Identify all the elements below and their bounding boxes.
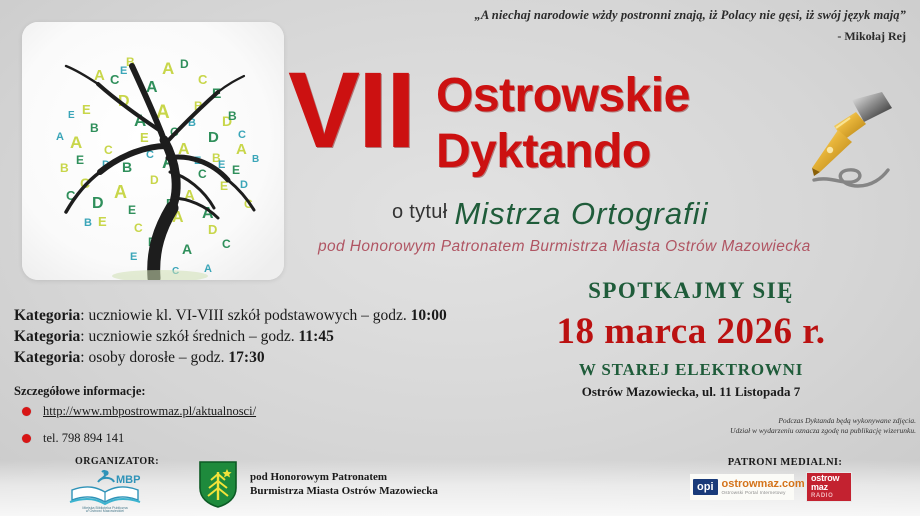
category-time: 17:30: [228, 349, 264, 366]
fountain-pen-icon: [786, 64, 916, 196]
svg-text:E: E: [140, 130, 149, 145]
omaz-line-3: RADIO: [811, 492, 851, 500]
opi-badge: opi: [693, 479, 718, 495]
category-time: 11:45: [299, 328, 334, 345]
title-lines: Ostrowskie Dyktando: [436, 68, 690, 180]
svg-text:C: C: [238, 129, 246, 141]
letter-tree-image: AB AC ED AB DA CE AB CA DA EE CA DA BC C…: [22, 22, 284, 280]
svg-text:E: E: [98, 214, 107, 229]
svg-text:C: C: [198, 72, 208, 87]
svg-text:D: D: [240, 179, 248, 191]
svg-text:E: E: [68, 110, 75, 121]
svg-text:D: D: [180, 57, 189, 71]
info-heading: Szczegółowe informacje:: [14, 384, 146, 399]
svg-text:D: D: [150, 173, 159, 187]
category-label: Kategoria: [14, 307, 80, 324]
organizer-heading: ORGANIZATOR:: [62, 456, 172, 467]
opi-ostrowmaz-logo[interactable]: opi ostrowmaz.com Ostrowski Portal Inter…: [690, 474, 794, 500]
title-line-dyktando: Dyktando: [436, 124, 690, 180]
svg-text:E: E: [120, 65, 127, 77]
svg-text:C: C: [104, 143, 113, 157]
svg-text:C: C: [222, 237, 231, 251]
bullet-dot-icon: [22, 434, 31, 443]
svg-text:A: A: [70, 133, 82, 152]
roman-numeral-vii: VII: [288, 62, 414, 158]
phone-text: tel. 798 894 141: [43, 431, 124, 446]
opi-text-block: ostrowmaz.com Ostrowski Portal Interneto…: [722, 479, 805, 496]
website-link[interactable]: http://www.mbpostrowmaz.pl/aktualnosci/: [43, 404, 256, 419]
svg-text:C: C: [110, 72, 120, 87]
category-row: Kategoria: uczniowie szkół średnich – go…: [14, 326, 447, 347]
svg-text:E: E: [232, 163, 240, 177]
category-row: Kategoria: uczniowie kl. VI-VIII szkół p…: [14, 305, 447, 326]
patronage-footer-text: pod Honorowym Patronatem Burmistrza Mias…: [250, 470, 438, 498]
svg-text:B: B: [60, 161, 69, 175]
patron-line-1: pod Honorowym Patronatem: [250, 470, 438, 484]
svg-text:w Ostrowi Mazowieckiej: w Ostrowi Mazowieckiej: [86, 509, 124, 512]
svg-text:E: E: [76, 153, 84, 167]
poster-canvas: „A niechaj narodowie wżdy postronni znaj…: [0, 0, 920, 516]
quote-text: „A niechaj narodowie wżdy postronni znaj…: [426, 8, 906, 23]
svg-text:A: A: [56, 131, 64, 143]
svg-text:B: B: [90, 121, 99, 135]
ostrowmaz-radio-logo[interactable]: ostrow maz RADIO: [806, 472, 852, 502]
svg-text:B: B: [228, 109, 237, 123]
city-coat-of-arms: [198, 460, 238, 508]
meet-heading: SPOTKAJMY SIĘ: [476, 278, 906, 304]
bullet-row-url[interactable]: http://www.mbpostrowmaz.pl/aktualnosci/: [22, 402, 256, 421]
category-label: Kategoria: [14, 328, 80, 345]
bullet-dot-icon: [22, 407, 31, 416]
opi-subtitle: Ostrowski Portal Internetowy: [722, 490, 805, 496]
svg-text:D: D: [208, 129, 219, 146]
subtitle-row: o tytułMistrza Ortografii: [392, 196, 708, 232]
svg-text:A: A: [114, 182, 127, 202]
patronage-line: pod Honorowym Patronatem Burmistrza Mias…: [318, 238, 811, 256]
svg-text:C: C: [134, 221, 143, 235]
svg-text:B: B: [252, 154, 259, 165]
disclaimer-line-1: Podczas Dyktanda będą wykonywane zdjęcia…: [630, 416, 916, 426]
svg-text:B: B: [122, 159, 132, 175]
svg-text:D: D: [208, 222, 217, 237]
opi-site-name: ostrowmaz.com: [722, 479, 805, 490]
svg-text:A: A: [236, 141, 247, 158]
category-time: 10:00: [411, 307, 447, 324]
event-details: SPOTKAJMY SIĘ 18 marca 2026 r. W STAREJ …: [476, 278, 906, 400]
bullet-row-phone: tel. 798 894 141: [22, 429, 256, 448]
title-line-ostrowskie: Ostrowskie: [436, 68, 690, 124]
event-venue: W STAREJ ELEKTROWNI: [476, 360, 906, 380]
disclaimer-line-2: Udział w wydarzeniu oznacza zgodę na pub…: [630, 426, 916, 436]
event-date: 18 marca 2026 r.: [476, 310, 906, 353]
svg-text:A: A: [162, 59, 174, 78]
event-address: Ostrów Mazowiecka, ul. 11 Listopada 7: [476, 384, 906, 400]
svg-text:D: D: [92, 195, 104, 212]
patron-line-2: Burmistrza Miasta Ostrów Mazowiecka: [250, 484, 438, 498]
category-desc: : uczniowie szkół średnich – godz.: [80, 328, 298, 345]
svg-text:E: E: [82, 102, 91, 117]
category-desc: : osoby dorosłe – godz.: [80, 349, 228, 366]
category-list: Kategoria: uczniowie kl. VI-VIII szkół p…: [14, 305, 447, 368]
quote-block: „A niechaj narodowie wżdy postronni znaj…: [426, 8, 906, 44]
photo-disclaimer: Podczas Dyktanda będą wykonywane zdjęcia…: [630, 416, 916, 436]
svg-text:A: A: [182, 241, 192, 257]
svg-text:C: C: [198, 167, 207, 181]
svg-text:A: A: [146, 79, 158, 96]
info-bullets: http://www.mbpostrowmaz.pl/aktualnosci/ …: [22, 402, 256, 456]
omaz-line-2: maz: [811, 483, 851, 492]
footer-bar: ORGANIZATOR: MBP Miejska Biblioteka Publ…: [0, 450, 920, 516]
svg-text:E: E: [130, 251, 137, 263]
category-row: Kategoria: osoby dorosłe – godz. 17:30: [14, 347, 447, 368]
category-label: Kategoria: [14, 349, 80, 366]
mbp-library-logo: MBP Miejska Biblioteka Publiczna w Ostro…: [62, 468, 148, 512]
svg-text:A: A: [204, 263, 212, 275]
category-desc: : uczniowie kl. VI-VIII szkół podstawowy…: [80, 307, 410, 324]
svg-text:E: E: [128, 203, 136, 217]
quote-author: - Mikołaj Rej: [426, 29, 906, 44]
svg-text:MBP: MBP: [116, 474, 140, 486]
subtitle-prefix: o tytuł: [392, 201, 447, 223]
subtitle-emphasis: Mistrza Ortografii: [454, 196, 708, 231]
media-partners-heading: PATRONI MEDIALNI:: [700, 457, 870, 468]
svg-text:B: B: [84, 217, 92, 229]
